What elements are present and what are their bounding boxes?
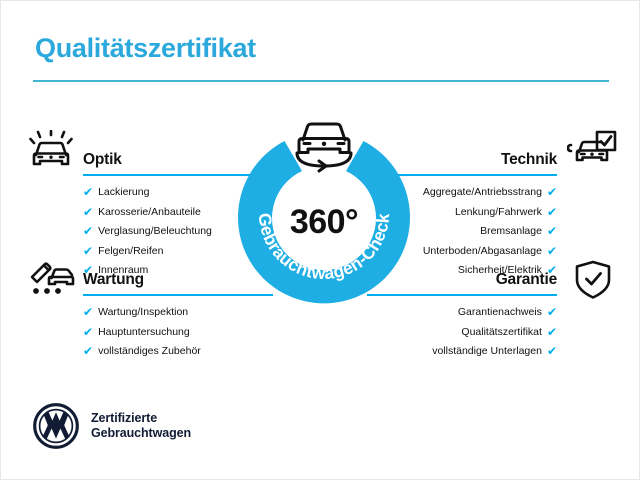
car-checkbox-icon xyxy=(567,130,617,170)
check-icon: ✔ xyxy=(547,345,557,357)
check-icon: ✔ xyxy=(547,186,557,198)
check-icon: ✔ xyxy=(83,326,93,338)
list-item-label: vollständiges Zubehör xyxy=(98,343,201,360)
list-item-label: vollständige Unterlagen xyxy=(432,343,542,360)
footer-line-2: Gebrauchtwagen xyxy=(91,426,191,441)
list-item-label: Lackierung xyxy=(98,184,149,201)
badge-360-gebrauchtwagen-check: Gebrauchtwagen-Check 360° xyxy=(229,119,419,309)
check-icon: ✔ xyxy=(83,306,93,318)
check-icon: ✔ xyxy=(547,225,557,237)
list-item-label: Felgen/Reifen xyxy=(98,243,163,260)
list-item-label: Lenkung/Fahrwerk xyxy=(455,204,542,221)
section-title: Optik xyxy=(83,151,122,169)
section-title: Wartung xyxy=(83,271,144,289)
check-icon: ✔ xyxy=(547,326,557,338)
list-item-label: Verglasung/Beleuchtung xyxy=(98,223,212,240)
car-lift-wrench-icon xyxy=(27,259,75,299)
section-title: Technik xyxy=(501,151,557,169)
list-item-label: Bremsanlage xyxy=(480,223,542,240)
check-icon: ✔ xyxy=(83,345,93,357)
list-item: Qualitätszertifikat ✔ xyxy=(367,324,557,341)
list-item: ✔ vollständiges Zubehör xyxy=(83,343,273,360)
list-item: ✔ Hauptuntersuchung xyxy=(83,324,273,341)
page-title: Qualitätszertifikat xyxy=(35,33,256,64)
car-rotate-360-icon xyxy=(279,115,369,177)
checklist: Garantienachweis ✔ Qualitätszertifikat ✔… xyxy=(367,304,557,360)
footer-brand-text: Zertifizierte Gebrauchtwagen xyxy=(91,411,191,441)
check-icon: ✔ xyxy=(83,245,93,257)
check-icon: ✔ xyxy=(83,186,93,198)
list-item-label: Garantienachweis xyxy=(458,304,542,321)
check-icon: ✔ xyxy=(547,306,557,318)
shield-check-icon xyxy=(571,259,615,301)
list-item-label: Qualitätszertifikat xyxy=(461,324,542,341)
car-shine-icon xyxy=(27,130,75,170)
list-item-label: Unterboden/Abgasanlage xyxy=(423,243,542,260)
list-item-label: Wartung/Inspektion xyxy=(98,304,188,321)
list-item-label: Aggregate/Antriebsstrang xyxy=(423,184,542,201)
check-icon: ✔ xyxy=(83,206,93,218)
vw-logo-icon xyxy=(33,403,79,449)
footer-line-1: Zertifizierte xyxy=(91,411,191,426)
title-divider xyxy=(33,80,609,82)
list-item-label: Karosserie/Anbauteile xyxy=(98,204,201,221)
footer-brand: Zertifizierte Gebrauchtwagen xyxy=(33,403,191,449)
check-icon: ✔ xyxy=(547,206,557,218)
check-icon: ✔ xyxy=(83,225,93,237)
checklist: ✔ Wartung/Inspektion ✔ Hauptuntersuchung… xyxy=(83,304,273,360)
section-title: Garantie xyxy=(496,271,557,289)
list-item: vollständige Unterlagen ✔ xyxy=(367,343,557,360)
list-item-label: Hauptuntersuchung xyxy=(98,324,190,341)
certificate-page: Qualitätszertifikat Optik ✔ Lackierung ✔… xyxy=(0,0,640,480)
check-icon: ✔ xyxy=(547,245,557,257)
